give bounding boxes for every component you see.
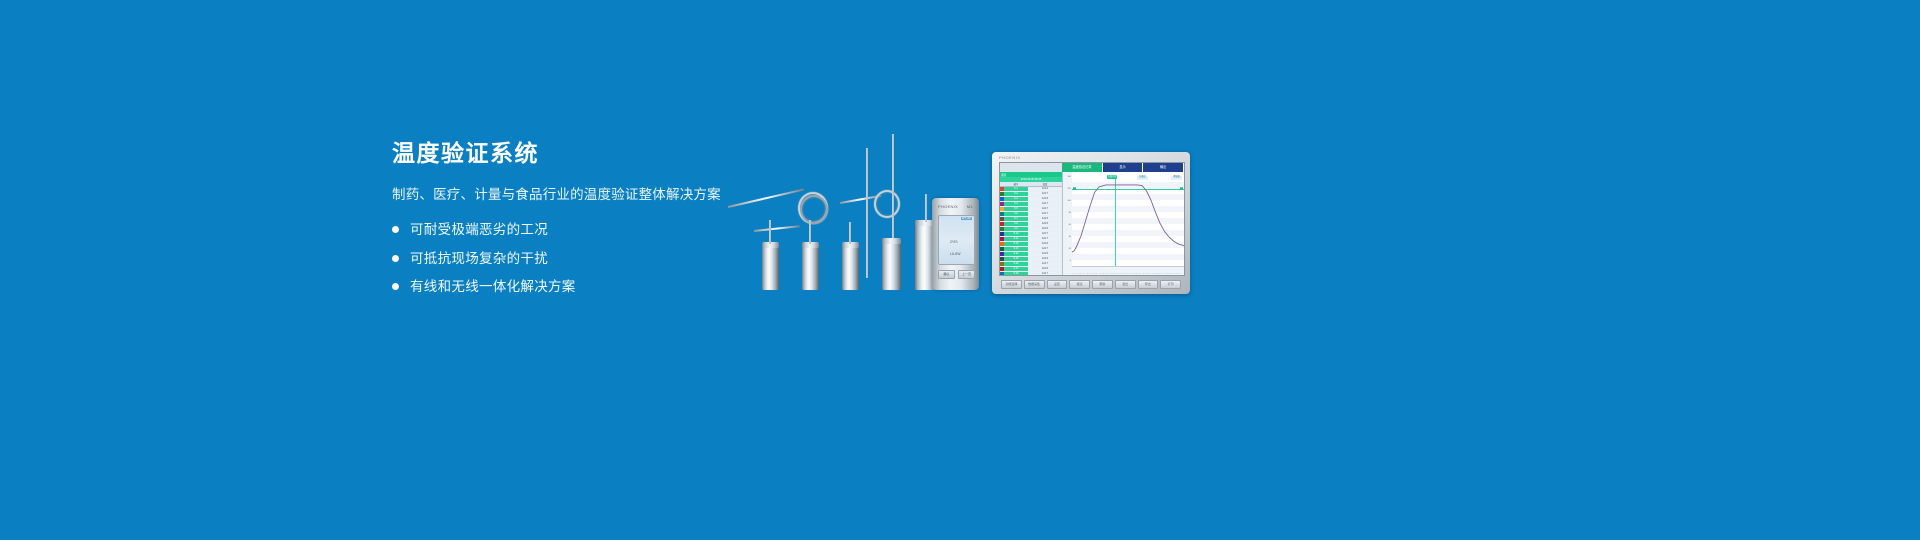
table-rows-container: 5-1121.45-2121.75-3121.65-4121.75-5121.7… bbox=[1000, 187, 1062, 275]
cell-temperature: 121.7 bbox=[1028, 212, 1062, 216]
cell-channel-id: 5-6 bbox=[1004, 212, 1028, 216]
y-tick: 60 bbox=[1069, 224, 1071, 226]
product-cluster-image: PHOENIX M1 WT-88 2*2S LILSW 确认 上一页 PHOEN… bbox=[740, 120, 1220, 320]
y-tick: 100 bbox=[1067, 200, 1071, 202]
cell-channel-id: 5-5 bbox=[1004, 207, 1028, 211]
cell-temperature: 121.5 bbox=[1028, 252, 1062, 256]
cell-channel-id: 5-17 bbox=[1004, 267, 1028, 271]
app-body: 通道 2014-09-05-09.35 编号 温度 5-1121.45-2121… bbox=[1000, 172, 1184, 275]
column-header-id: 编号 bbox=[1004, 182, 1028, 186]
handheld-brand-label: PHOENIX bbox=[938, 204, 958, 209]
y-tick: 140 bbox=[1067, 176, 1071, 178]
tab-display[interactable]: 显示 bbox=[1103, 163, 1144, 172]
validation-software-monitor: PHOENIX 温度验证记录 显示 输出 通道 2014-09-05-09.35 bbox=[992, 152, 1190, 294]
cell-temperature: 121.4 bbox=[1028, 187, 1062, 191]
cell-temperature: 121.6 bbox=[1028, 197, 1062, 201]
data-logger-small-3 bbox=[842, 246, 859, 290]
toolbar-spacer bbox=[1000, 163, 1062, 172]
coil-probe2-ring-icon bbox=[874, 190, 900, 218]
y-tick: 120 bbox=[1067, 188, 1071, 190]
cell-channel-id: 5-11 bbox=[1004, 237, 1028, 241]
handheld-model-label: M1 bbox=[967, 204, 973, 209]
cell-temperature: 121.6 bbox=[1028, 257, 1062, 261]
data-logger-small-3-probe bbox=[849, 222, 851, 244]
monitor-button[interactable]: 报表 bbox=[1069, 280, 1090, 289]
bullet-dot-icon bbox=[392, 226, 399, 233]
handheld-confirm-button[interactable]: 确认 bbox=[938, 270, 955, 279]
monitor-button[interactable]: 帮助 bbox=[1092, 280, 1113, 289]
tab-output[interactable]: 输出 bbox=[1143, 163, 1184, 172]
cell-temperature: 121.6 bbox=[1028, 227, 1062, 231]
handheld-screen[interactable]: WT-88 2*2S LILSW bbox=[938, 215, 975, 265]
bullet-label: 有线和无线一体化解决方案 bbox=[410, 280, 576, 294]
monitor-button[interactable]: 功能选择 bbox=[1001, 280, 1022, 289]
cell-temperature: 121.7 bbox=[1028, 192, 1062, 196]
cell-channel-id: 5-10 bbox=[1004, 232, 1028, 236]
bullet-label: 可抵抗现场复杂的干扰 bbox=[410, 252, 548, 266]
cell-temperature: 121.6 bbox=[1028, 242, 1062, 246]
y-tick: 20 bbox=[1069, 248, 1071, 250]
table-row[interactable]: 5-18121.7 bbox=[1000, 272, 1062, 275]
data-logger-small-2 bbox=[802, 246, 819, 290]
cell-channel-id: 5-1 bbox=[1004, 187, 1028, 191]
cell-temperature: 121.7 bbox=[1028, 202, 1062, 206]
cell-channel-id: 5-2 bbox=[1004, 192, 1028, 196]
handheld-screen-row: LILSW bbox=[950, 252, 961, 256]
data-logger-large-probe bbox=[925, 194, 927, 222]
monitor-button[interactable]: 设置 bbox=[1047, 280, 1068, 289]
cell-channel-id: 5-8 bbox=[1004, 222, 1028, 226]
cell-channel-id: 5-4 bbox=[1004, 202, 1028, 206]
needle-probe-tall-icon bbox=[866, 148, 868, 278]
monitor-button[interactable]: 数据采集 bbox=[1024, 280, 1045, 289]
handheld-screen-row: 2*2S bbox=[950, 240, 958, 244]
cell-temperature: 121.7 bbox=[1028, 237, 1062, 241]
cell-channel-id: 5-3 bbox=[1004, 197, 1028, 201]
monitor-screen[interactable]: 温度验证记录 显示 输出 通道 2014-09-05-09.35 编号 温度 bbox=[999, 162, 1185, 276]
temperature-chart[interactable]: 140 120 100 80 60 40 20 0 bbox=[1063, 172, 1184, 275]
cell-temperature: 121.5 bbox=[1028, 222, 1062, 226]
monitor-button[interactable]: 导出 bbox=[1138, 280, 1159, 289]
data-logger-medium bbox=[882, 242, 901, 290]
cell-temperature: 121.7 bbox=[1028, 272, 1062, 275]
chart-x-axis: |||||||||||||||||||||||||||||||||| bbox=[1072, 266, 1184, 275]
cell-channel-id: 5-7 bbox=[1004, 217, 1028, 221]
cell-channel-id: 5-14 bbox=[1004, 252, 1028, 256]
column-header-value: 温度 bbox=[1028, 182, 1062, 186]
handheld-prev-button[interactable]: 上一页 bbox=[958, 270, 975, 279]
bullet-label: 可耐受极端恶劣的工况 bbox=[410, 223, 548, 237]
y-tick: 0 bbox=[1070, 260, 1071, 262]
bullet-dot-icon bbox=[392, 255, 399, 262]
tab-record[interactable]: 温度验证记录 bbox=[1062, 163, 1103, 172]
cell-temperature: 121.6 bbox=[1028, 217, 1062, 221]
monitor-button[interactable]: 退出 bbox=[1115, 280, 1136, 289]
coil-probe-tail-icon bbox=[754, 225, 800, 232]
cell-temperature: 121.7 bbox=[1028, 262, 1062, 266]
y-tick: 80 bbox=[1069, 212, 1071, 214]
cell-channel-id: 5-9 bbox=[1004, 227, 1028, 231]
monitor-button-bar: 功能选择 数据采集 设置 报表 帮助 退出 导出 打印 bbox=[999, 278, 1183, 291]
monitor-button[interactable]: 打印 bbox=[1160, 280, 1181, 289]
cell-temperature: 121.7 bbox=[1028, 232, 1062, 236]
cell-channel-id: 5-12 bbox=[1004, 242, 1028, 246]
handheld-screen-badge: WT-88 bbox=[961, 217, 972, 220]
bullet-dot-icon bbox=[392, 283, 399, 290]
hero-banner: 温度验证系统 制药、医疗、计量与食品行业的温度验证整体解决方案 可耐受极端恶劣的… bbox=[0, 0, 1920, 540]
temperature-curve bbox=[1072, 172, 1184, 267]
y-tick: 40 bbox=[1069, 236, 1071, 238]
cell-channel-id: 5-18 bbox=[1004, 272, 1028, 275]
channel-data-table[interactable]: 通道 2014-09-05-09.35 编号 温度 5-1121.45-2121… bbox=[1000, 172, 1063, 275]
coil-probe-stem-icon bbox=[728, 188, 804, 207]
cell-channel-id: 5-13 bbox=[1004, 247, 1028, 251]
cell-temperature: 121.6 bbox=[1028, 267, 1062, 271]
cell-temperature: 121.7 bbox=[1028, 207, 1062, 211]
coil-probe-ring-inner-icon bbox=[800, 195, 828, 224]
cell-temperature: 121.7 bbox=[1028, 247, 1062, 251]
handheld-reader-device[interactable]: PHOENIX M1 WT-88 2*2S LILSW 确认 上一页 bbox=[932, 198, 979, 290]
data-logger-small-1 bbox=[762, 246, 779, 290]
data-logger-small-2-probe bbox=[809, 220, 811, 244]
data-logger-small-1-probe bbox=[769, 220, 771, 244]
data-logger-medium-cap bbox=[882, 238, 901, 244]
chart-plot-area: 1 2 灭菌开始 升温段 降温段 bbox=[1072, 172, 1184, 275]
cell-channel-id: 5-15 bbox=[1004, 257, 1028, 261]
monitor-brand-label: PHOENIX bbox=[999, 155, 1021, 160]
cell-channel-id: 5-16 bbox=[1004, 262, 1028, 266]
